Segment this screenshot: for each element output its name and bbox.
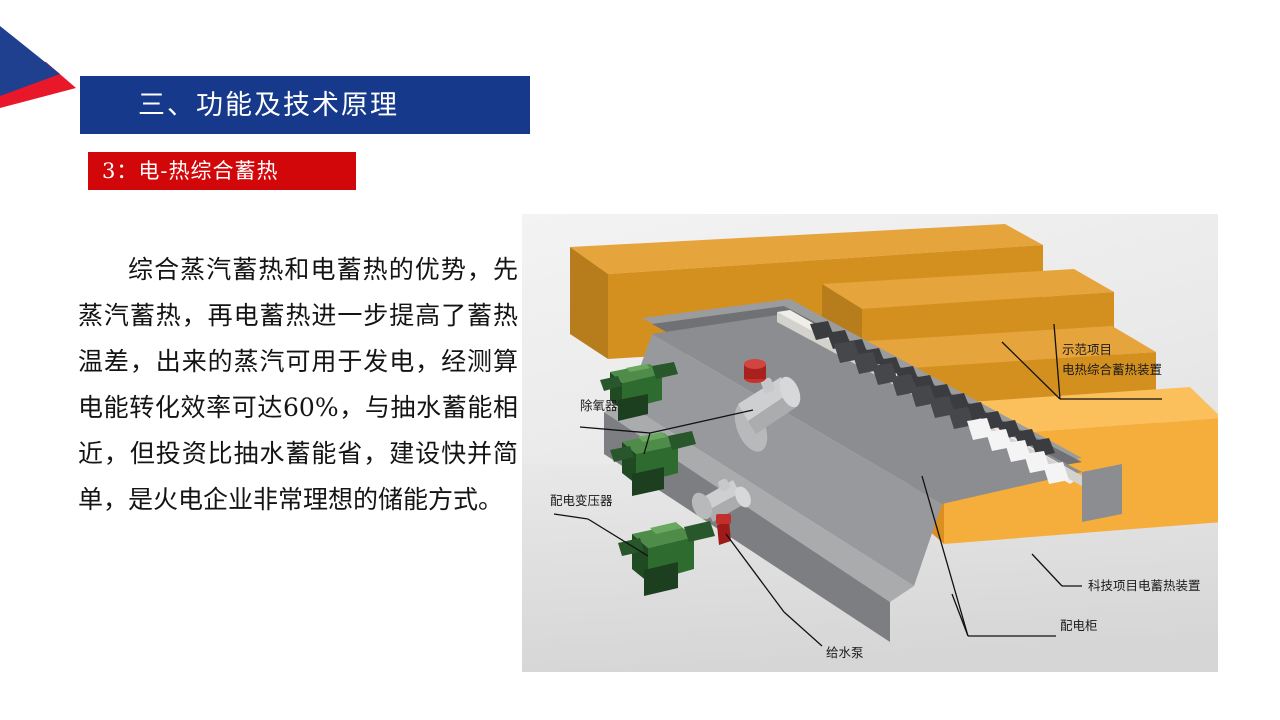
- label-demo-line2: 电热综合蓄热装置: [1062, 362, 1162, 377]
- body-paragraph: 综合蒸汽蓄热和电蓄热的优势，先蒸汽蓄热，再电蓄热进一步提高了蓄热温差，出来的蒸汽…: [78, 247, 518, 523]
- label-switchgear: 配电柜: [1060, 618, 1098, 633]
- illustration-panel: 除氧器 配电变压器 给水泵 配电柜 示范项目 电热综合蓄热装置 科技项目电蓄热装…: [522, 214, 1218, 672]
- red-vessel: [744, 359, 766, 383]
- label-deaerator: 除氧器: [580, 398, 618, 413]
- label-tech-project: 科技项目电蓄热装置: [1088, 578, 1201, 593]
- label-transformer: 配电变压器: [550, 493, 613, 508]
- corner-arrows-icon: [0, 0, 80, 110]
- slide-canvas: 三、功能及技术原理 3：电-热综合蓄热 综合蒸汽蓄热和电蓄热的优势，先蒸汽蓄热，…: [0, 0, 1280, 720]
- plant-3d-render: 除氧器 配电变压器 给水泵 配电柜 示范项目 电热综合蓄热装置 科技项目电蓄热装…: [522, 214, 1218, 672]
- corner-decoration: [0, 0, 80, 110]
- label-demo-line1: 示范项目: [1062, 342, 1112, 357]
- label-feed-pump: 给水泵: [826, 645, 864, 660]
- section-title-bar: 三、功能及技术原理: [80, 76, 530, 134]
- section-title-text: 三、功能及技术原理: [80, 92, 399, 119]
- sub-heading-bar: 3：电-热综合蓄热: [88, 152, 356, 190]
- sub-heading-text: 3：电-热综合蓄热: [88, 161, 278, 182]
